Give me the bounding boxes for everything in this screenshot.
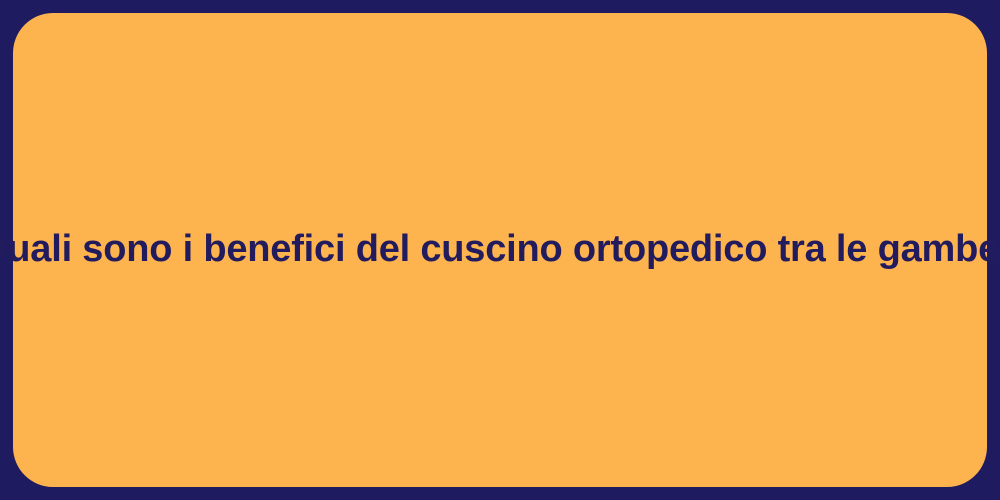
- page-title: Quali sono i benefici del cuscino ortope…: [0, 227, 1000, 272]
- question-card: Quali sono i benefici del cuscino ortope…: [13, 13, 987, 487]
- banner-frame: Quali sono i benefici del cuscino ortope…: [0, 0, 1000, 500]
